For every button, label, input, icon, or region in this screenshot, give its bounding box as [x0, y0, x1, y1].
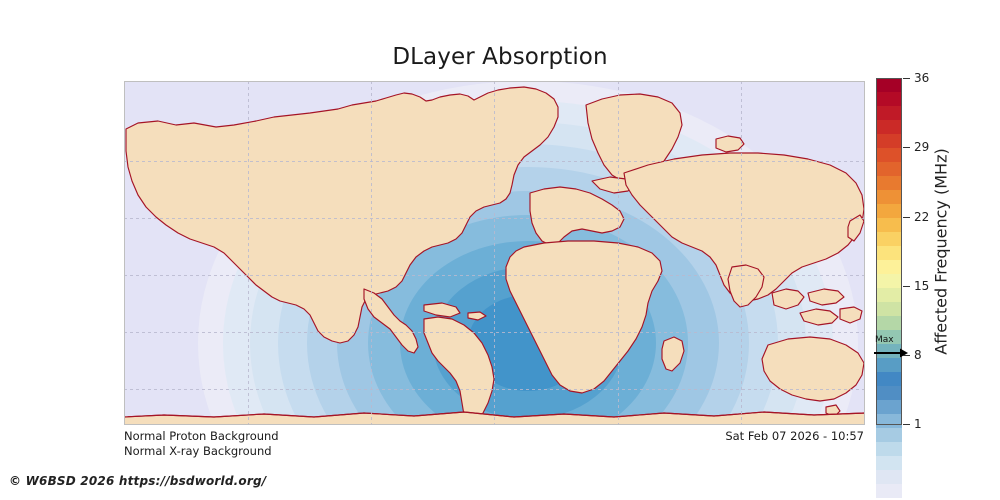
colorbar-tick-22: [903, 217, 910, 218]
colorbar[interactable]: Max 36 29 22 15 8 1: [876, 78, 902, 425]
colorbar-tick-36: [903, 78, 910, 79]
colorbar-gradient: [876, 78, 902, 425]
gridline-lon-120e: [741, 81, 742, 425]
page-title: DLayer Absorption: [0, 44, 1000, 70]
colorbar-axis-title-text: Affected Frequency (MHz): [932, 148, 951, 354]
proton-background-text: Normal Proton Background: [124, 429, 279, 444]
colorbar-label-36: 36: [914, 71, 929, 85]
xray-background-text: Normal X-ray Background: [124, 444, 279, 459]
colorbar-tick-15: [903, 286, 910, 287]
colorbar-label-22: 22: [914, 210, 929, 224]
colorbar-tick-29: [903, 147, 910, 148]
colorbar-label-8: 8: [914, 348, 922, 362]
colorbar-label-29: 29: [914, 140, 929, 154]
gridline-lon-60e: [618, 81, 619, 425]
colorbar-label-15: 15: [914, 279, 929, 293]
absorption-map[interactable]: [124, 81, 865, 425]
max-marker-label: Max: [875, 336, 894, 345]
gridline-lon-0: [494, 81, 495, 425]
copyright-text: © W6BSD 2026 https://bsdworld.org/: [9, 474, 266, 488]
max-arrow-icon: [874, 348, 908, 358]
colorbar-tick-1: [903, 424, 910, 425]
timestamp-text: Sat Feb 07 2026 - 10:57: [725, 429, 864, 443]
background-conditions: Normal Proton Background Normal X-ray Ba…: [124, 429, 279, 459]
colorbar-label-1: 1: [914, 417, 922, 431]
colorbar-tick-8: [903, 355, 910, 356]
gridline-lon-60w: [371, 81, 372, 425]
colorbar-axis-title: Affected Frequency (MHz): [930, 78, 952, 425]
gridline-lon-120w: [248, 81, 249, 425]
